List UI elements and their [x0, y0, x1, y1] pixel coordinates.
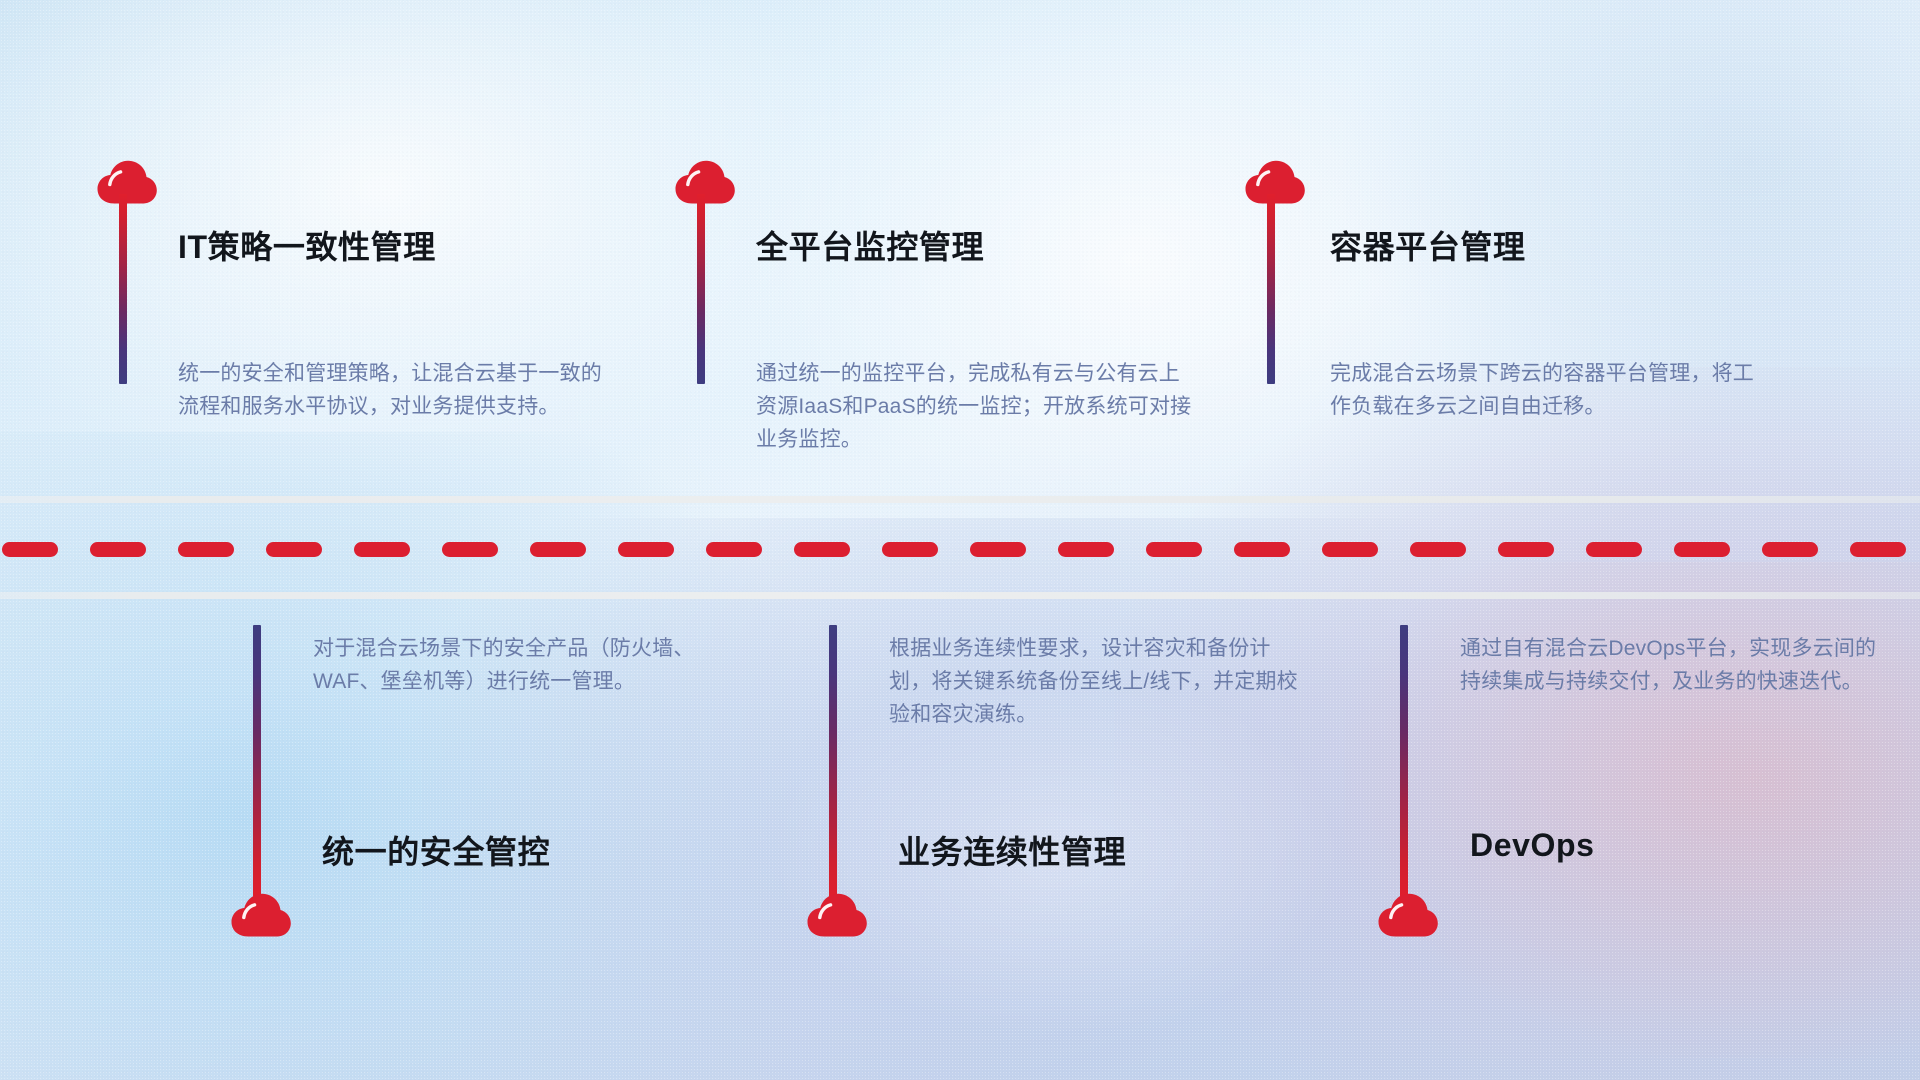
dash-segment — [354, 542, 410, 557]
dash-segment — [266, 542, 322, 557]
divider-dashed-line — [0, 541, 1920, 558]
column-title: IT策略一致性管理 — [178, 222, 436, 268]
column-description: 统一的安全和管理策略，让混合云基于一致的流程和服务水平协议，对业务提供支持。 — [178, 357, 616, 423]
column-title: DevOps — [1470, 827, 1595, 864]
cloud-icon — [96, 160, 158, 204]
stem-connector — [829, 625, 837, 897]
dash-segment — [882, 542, 938, 557]
cloud-icon — [806, 893, 868, 937]
cloud-icon — [1244, 160, 1306, 204]
dash-segment — [1410, 542, 1466, 557]
divider-band-upper — [0, 496, 1920, 503]
infographic-board: IT策略一致性管理 统一的安全和管理策略，让混合云基于一致的流程和服务水平协议，… — [0, 0, 1920, 1080]
column-title: 统一的安全管控 — [322, 827, 550, 873]
column-description: 对于混合云场景下的安全产品（防火墙、WAF、堡垒机等）进行统一管理。 — [313, 632, 733, 698]
stem-connector — [697, 194, 705, 384]
cloud-icon — [674, 160, 736, 204]
column-description: 通过统一的监控平台，完成私有云与公有云上资源IaaS和PaaS的统一监控；开放系… — [756, 357, 1194, 456]
divider-band-lower — [0, 592, 1920, 599]
column-description: 通过自有混合云DevOps平台，实现多云间的持续集成与持续交付，及业务的快速迭代… — [1460, 632, 1880, 698]
dash-segment — [706, 542, 762, 557]
column-title: 全平台监控管理 — [756, 222, 984, 268]
column-description: 完成混合云场景下跨云的容器平台管理，将工作负载在多云之间自由迁移。 — [1330, 357, 1760, 423]
dash-segment — [794, 542, 850, 557]
dash-segment — [1586, 542, 1642, 557]
dash-segment — [1322, 542, 1378, 557]
dash-segment — [1674, 542, 1730, 557]
dash-segment — [442, 542, 498, 557]
dash-segment — [1058, 542, 1114, 557]
dash-segment — [1762, 542, 1818, 557]
dash-segment — [618, 542, 674, 557]
stem-connector — [253, 625, 261, 897]
stem-connector — [1267, 194, 1275, 384]
column-description: 根据业务连续性要求，设计容灾和备份计划，将关键系统备份至线上/线下，并定期校验和… — [889, 632, 1309, 731]
column-title: 容器平台管理 — [1330, 222, 1526, 268]
cloud-icon — [230, 893, 292, 937]
dash-segment — [1498, 542, 1554, 557]
dash-segment — [1850, 542, 1906, 557]
dash-segment — [178, 542, 234, 557]
stem-connector — [1400, 625, 1408, 897]
column-title: 业务连续性管理 — [898, 827, 1126, 873]
dash-segment — [2, 542, 58, 557]
dash-segment — [90, 542, 146, 557]
cloud-icon — [1377, 893, 1439, 937]
dash-segment — [970, 542, 1026, 557]
dash-segment — [1146, 542, 1202, 557]
dash-segment — [1234, 542, 1290, 557]
stem-connector — [119, 194, 127, 384]
dash-segment — [530, 542, 586, 557]
